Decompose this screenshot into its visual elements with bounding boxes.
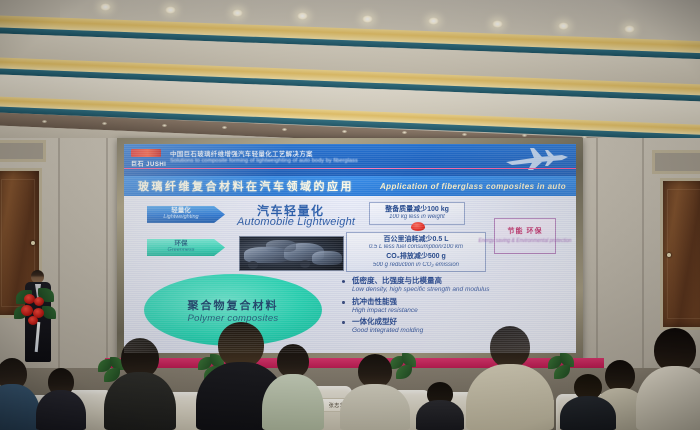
slide-title-en: Application of fiberglass composites in …: [380, 182, 566, 191]
audience-member: [466, 326, 554, 430]
polymer-composites-cn: 聚合物复合材料: [188, 297, 279, 313]
info-box-fuel-co2: 百公里油耗减少0.5 L 0.5 L less fuel consumption…: [346, 232, 486, 272]
ceiling-downlight: [362, 15, 373, 23]
audience-member: [0, 358, 40, 430]
header-underline: [124, 168, 576, 170]
automobile-chassis-photo: [239, 236, 344, 271]
flower-leaf: [42, 306, 56, 319]
bullet-2-cn: 一体化成型好: [352, 317, 423, 327]
rail-light: [102, 122, 107, 125]
audience-shoulders: [104, 372, 176, 430]
ceiling-downlight: [428, 17, 439, 25]
energy-saving-cn: 节能 环保: [508, 227, 543, 237]
bullet-1-en: High impact resistance: [352, 307, 418, 315]
tag-greenness-en: Greenness: [168, 247, 195, 254]
ceiling-downlight: [492, 20, 503, 28]
audience-member: [560, 374, 616, 430]
ceiling-downlight: [165, 6, 176, 14]
info-co2-en: 500 g reduction in CO₂ emission: [352, 262, 480, 270]
ceiling-downlight: [624, 25, 635, 33]
audience-head: [490, 326, 530, 368]
ceiling-downlight: [100, 3, 111, 11]
rail-light: [222, 126, 227, 129]
audience-member: [636, 328, 700, 430]
rail-light: [462, 133, 467, 136]
audience-member: [104, 338, 176, 430]
projection-screen: 巨石 JUSHI 中国巨石玻璃纤维增强汽车轻量化工艺解决方案 Solutions…: [124, 144, 576, 353]
car-silhouette: [312, 251, 342, 265]
rail-light: [42, 120, 47, 123]
header-title-en: Solutions to composite forming of lightw…: [170, 158, 358, 164]
info-co2-cn: CO₂排放减少500 g: [352, 252, 480, 261]
audience-member: [416, 382, 464, 430]
bullet-dot-icon: [342, 280, 345, 283]
info-fuel-en: 0.5 L less fuel consumption/100 km: [352, 244, 480, 252]
list-item: 低密度、比强度与比模量高 Low density, high specific …: [342, 276, 567, 295]
bullet-dot-icon: [342, 321, 345, 324]
right-door[interactable]: [660, 178, 700, 330]
flower-bloom: [34, 297, 44, 306]
left-door-transom: [0, 140, 46, 162]
header-title-cn: 中国巨石玻璃纤维增强汽车轻量化工艺解决方案: [170, 148, 313, 158]
slide-title-cn: 玻璃纤维复合材料在汽车领域的应用: [138, 178, 354, 194]
rail-light: [282, 128, 287, 131]
energy-saving-callout: 节能 环保 Energy saving & Environmental prot…: [494, 218, 556, 254]
car-silhouette: [266, 240, 296, 252]
flower-bloom: [21, 305, 33, 316]
slide-header: 巨石 JUSHI 中国巨石玻璃纤维增强汽车轻量化工艺解决方案 Solutions…: [124, 144, 576, 176]
audience-head: [358, 354, 392, 388]
audience-shoulders: [416, 400, 464, 430]
red-arrow-marker-icon: [411, 222, 425, 231]
audience-shoulders: [340, 384, 410, 430]
bullet-dot-icon: [342, 301, 345, 304]
car-wheel: [300, 260, 310, 268]
rail-light: [522, 134, 527, 137]
headline-en: Automobile Lightweight: [237, 216, 355, 228]
bullet-2-en: Good integrated molding: [352, 327, 423, 335]
bullet-0-cn: 低密度、比强度与比模量高: [352, 276, 490, 286]
audience-head: [277, 344, 309, 378]
tag-lightweighting-en: Lightweighting: [163, 214, 198, 221]
energy-saving-en: Energy saving & Environmental protection: [478, 238, 571, 244]
audience-member: [262, 344, 324, 430]
ceiling-downlight: [297, 12, 308, 20]
conference-hall-photo: 巨石 JUSHI 中国巨石玻璃纤维增强汽车轻量化工艺解决方案 Solutions…: [0, 0, 700, 430]
rail-light: [162, 124, 167, 127]
door-panel: [667, 189, 700, 319]
jushi-logo: 巨石 JUSHI: [131, 149, 161, 169]
door-knob-icon: [667, 253, 671, 257]
info-fuel-cn: 百公里油耗减少0.5 L: [352, 235, 480, 244]
audience-member: [340, 354, 410, 430]
ceiling-downlight: [558, 22, 569, 30]
tag-lightweighting: 轻量化 Lightweighting: [147, 206, 225, 223]
rail-light: [342, 130, 347, 133]
audience-shoulders: [466, 364, 554, 430]
right-door-transom: [652, 150, 700, 174]
car-wheel: [248, 261, 258, 269]
bullet-0-en: Low density, high specific strength and …: [352, 286, 490, 294]
logo-red-bar: [131, 149, 161, 157]
audience-shoulders: [262, 374, 324, 430]
bullet-1-cn: 抗冲击性能强: [352, 297, 418, 307]
audience-shoulders: [0, 384, 40, 430]
airplane-icon: [500, 146, 572, 174]
slide-title-bar: 玻璃纤维复合材料在汽车领域的应用 Application of fibergla…: [124, 176, 576, 196]
info-weight-cn: 整备质量减少100 kg: [375, 205, 459, 214]
audience-shoulders: [560, 396, 616, 430]
presentation-slide: 巨石 JUSHI 中国巨石玻璃纤维增强汽车轻量化工艺解决方案 Solutions…: [124, 144, 576, 353]
audience-shoulders: [36, 390, 86, 430]
audience-shoulders: [636, 366, 700, 430]
audience-member: [36, 368, 86, 430]
tag-greenness: 环保 Greenness: [147, 239, 225, 256]
list-item: 抗冲击性能强 High impact resistance: [342, 297, 567, 316]
door-knob-icon: [31, 241, 35, 245]
ceiling-downlight: [232, 9, 243, 17]
rail-light: [402, 131, 407, 134]
red-flower-arrangement: [16, 288, 54, 328]
ceiling: [0, 0, 700, 142]
